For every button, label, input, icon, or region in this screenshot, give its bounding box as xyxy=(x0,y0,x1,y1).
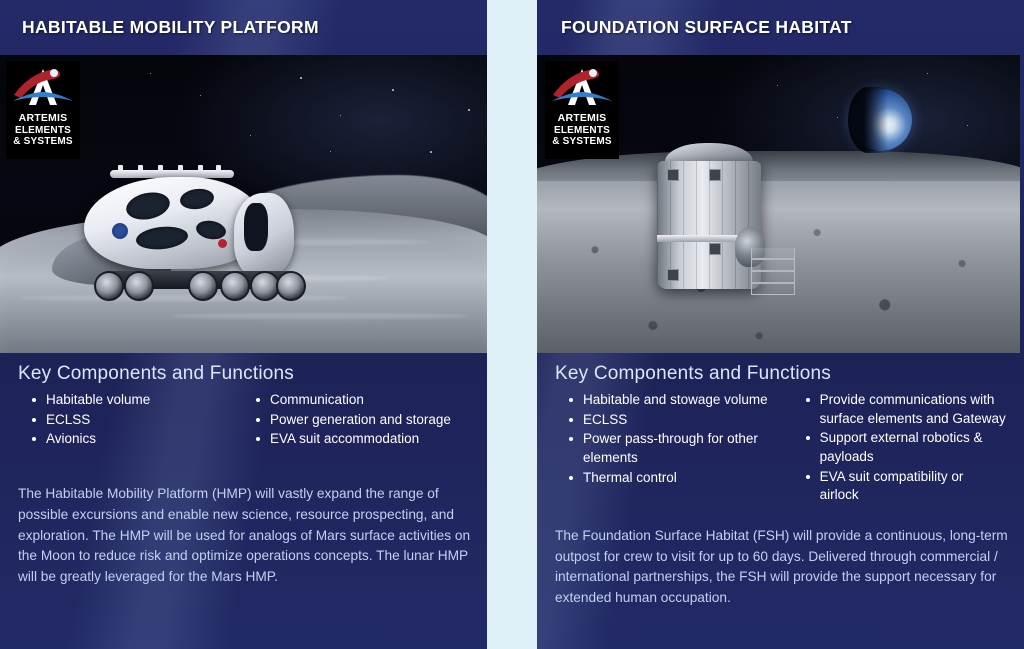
key-components-heading: Key Components and Functions xyxy=(18,363,469,385)
artemis-badge-line2: ELEMENTS xyxy=(13,125,73,136)
mission-marker xyxy=(218,239,227,248)
page-title: FOUNDATION SURFACE HABITAT xyxy=(561,17,852,38)
bullet-column-b: Communication Power generation and stora… xyxy=(242,391,469,450)
list-item: Thermal control xyxy=(569,469,792,488)
bullet-list-b: Provide communications with surface elem… xyxy=(792,391,1006,505)
panel-habitable-mobility-platform: HABITABLE MOBILITY PLATFORM xyxy=(0,0,487,649)
bullet-column-b: Provide communications with surface elem… xyxy=(792,391,1006,506)
artemis-badge-line3: & SYSTEMS xyxy=(552,136,612,147)
page-title: HABITABLE MOBILITY PLATFORM xyxy=(22,17,319,38)
bullet-list-a: Habitable and stowage volume ECLSS Power… xyxy=(555,391,792,487)
list-item: EVA suit compatibility or airlock xyxy=(806,468,1006,505)
artemis-badge-name: ARTEMIS xyxy=(558,112,607,124)
list-item: ECLSS xyxy=(32,411,242,430)
key-components-block-right: Key Components and Functions Habitable a… xyxy=(537,353,1024,506)
bullet-columns: Habitable volume ECLSS Avionics Communic… xyxy=(18,391,469,450)
description-paragraph: The Habitable Mobility Platform (HMP) wi… xyxy=(0,484,487,588)
list-item: Habitable and stowage volume xyxy=(569,391,792,410)
bullet-column-a: Habitable and stowage volume ECLSS Power… xyxy=(555,391,792,506)
habitat-stairs xyxy=(751,248,795,295)
list-item: Support external robotics & payloads xyxy=(806,429,1006,466)
description-paragraph: The Foundation Surface Habitat (FSH) wil… xyxy=(537,526,1024,609)
slide-root: HABITABLE MOBILITY PLATFORM xyxy=(0,0,1024,649)
rover-wheel xyxy=(276,271,306,301)
list-item: Communication xyxy=(256,391,469,410)
list-item: ECLSS xyxy=(569,411,792,430)
artemis-logo-icon xyxy=(549,65,615,113)
artemis-badge-line3: & SYSTEMS xyxy=(13,136,73,147)
photo-foundation-surface-habitat: ARTEMIS ELEMENTS & SYSTEMS xyxy=(537,55,1020,353)
artemis-badge-text: ARTEMIS ELEMENTS & SYSTEMS xyxy=(13,113,73,147)
panel-foundation-surface-habitat: FOUNDATION SURFACE HABITAT xyxy=(537,0,1024,649)
list-item: EVA suit accommodation xyxy=(256,430,469,449)
list-item: Avionics xyxy=(32,430,242,449)
bullet-list-a: Habitable volume ECLSS Avionics xyxy=(18,391,242,449)
artemis-elements-and-systems-badge: ARTEMIS ELEMENTS & SYSTEMS xyxy=(545,61,619,159)
rover-wheel xyxy=(188,271,218,301)
key-components-block-left: Key Components and Functions Habitable v… xyxy=(0,353,487,450)
artemis-badge-text: ARTEMIS ELEMENTS & SYSTEMS xyxy=(552,113,612,147)
rover-wheel xyxy=(124,271,154,301)
artemis-logo-icon xyxy=(10,65,76,113)
panel-header-right: FOUNDATION SURFACE HABITAT xyxy=(537,0,1024,55)
list-item: Power pass-through for other elements xyxy=(569,430,792,467)
list-item: Provide communications with surface elem… xyxy=(806,391,1006,428)
bullet-list-b: Communication Power generation and stora… xyxy=(242,391,469,449)
artemis-badge-line2: ELEMENTS xyxy=(552,125,612,136)
artemis-badge-name: ARTEMIS xyxy=(19,112,68,124)
surface-habitat-module xyxy=(657,143,761,295)
bullet-columns: Habitable and stowage volume ECLSS Power… xyxy=(555,391,1006,506)
bullet-column-a: Habitable volume ECLSS Avionics xyxy=(18,391,242,450)
list-item: Power generation and storage xyxy=(256,411,469,430)
list-item: Habitable volume xyxy=(32,391,242,410)
lunar-rover-illustration xyxy=(84,177,316,297)
key-components-heading: Key Components and Functions xyxy=(555,363,1006,385)
earth-globe xyxy=(850,89,912,151)
artemis-elements-and-systems-badge: ARTEMIS ELEMENTS & SYSTEMS xyxy=(6,61,80,159)
panel-divider xyxy=(487,0,537,649)
earth-terminator-shadow xyxy=(848,87,888,153)
rover-hatch xyxy=(244,203,268,251)
nasa-insignia xyxy=(112,223,128,239)
habitat-cylinder xyxy=(657,161,761,289)
rover-wheel xyxy=(94,271,124,301)
rover-wheel xyxy=(220,271,250,301)
photo-habitable-mobility-platform: ARTEMIS ELEMENTS & SYSTEMS xyxy=(0,55,487,353)
panel-header-left: HABITABLE MOBILITY PLATFORM xyxy=(0,0,487,55)
